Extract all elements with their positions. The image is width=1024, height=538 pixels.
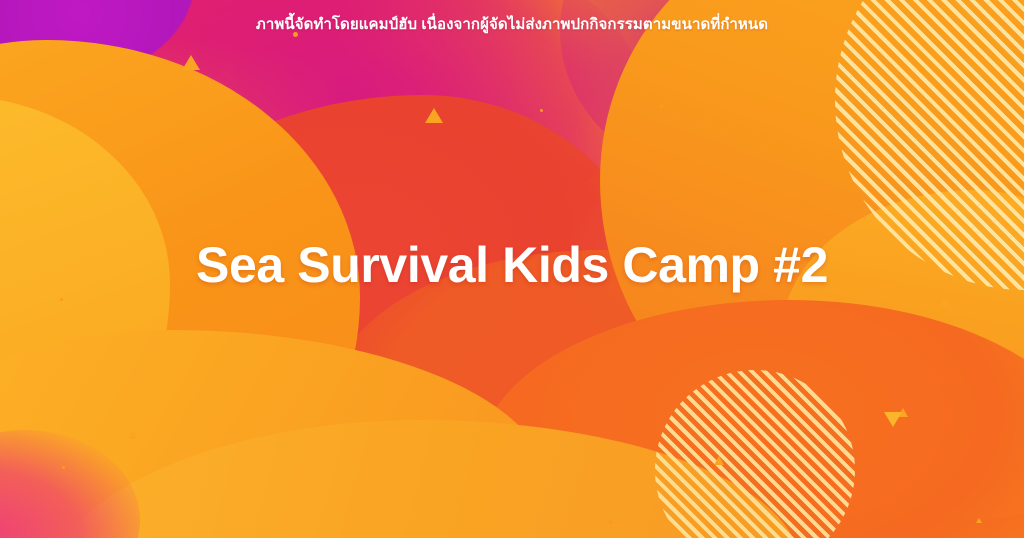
triangle-decoration-icon — [714, 456, 724, 465]
dot-decoration-icon — [62, 466, 65, 469]
dot-decoration-icon — [540, 109, 543, 112]
dot-decoration-icon — [660, 105, 663, 108]
page-title: Sea Survival Kids Camp #2 — [0, 236, 1024, 294]
triangle-decoration-icon — [940, 297, 950, 306]
triangle-decoration-icon — [128, 430, 138, 439]
triangle-decoration-icon — [425, 108, 443, 123]
triangle-decoration-icon — [398, 418, 404, 423]
triangle-decoration-icon — [182, 55, 200, 70]
campaign-banner: ภาพนี้จัดทำโดยแคมป์ฮับ เนื่องจากผู้จัดไม… — [0, 0, 1024, 538]
dot-decoration-icon — [60, 298, 63, 301]
triangle-decoration-icon — [438, 483, 456, 498]
triangle-decoration-down-icon — [884, 412, 902, 427]
attribution-notice: ภาพนี้จัดทำโดยแคมป์ฮับ เนื่องจากผู้จัดไม… — [0, 15, 1024, 35]
triangle-decoration-icon — [976, 518, 982, 523]
dot-decoration-icon — [608, 520, 613, 525]
